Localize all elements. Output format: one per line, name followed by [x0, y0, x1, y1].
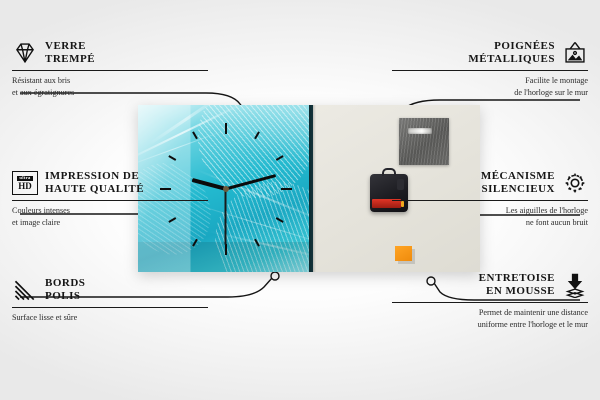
ultra-hd-icon-main: HD [18, 182, 32, 191]
callout-rule [12, 200, 208, 201]
callout-title-line: POLIS [45, 290, 85, 303]
callout-silent-mechanism: MÉCANISME SILENCIEUX Les aiguilles de l'… [392, 170, 588, 228]
callout-title-line: ENTRETOISE [479, 272, 555, 285]
callout-title-line: EN MOUSSE [486, 285, 555, 298]
callout-rule [12, 70, 208, 71]
callout-desc-line: Surface lisse et sûre [12, 312, 208, 323]
callout-title-line: IMPRESSION DE [45, 170, 144, 183]
callout-title-line: SILENCIEUX [482, 183, 555, 196]
metal-hanger-plate [399, 118, 449, 165]
callout-title-line: HAUTE QUALITÉ [45, 183, 144, 196]
callout-desc-line: ne font aucun bruit [392, 217, 588, 228]
diamond-icon [12, 40, 38, 66]
callout-desc-line: Résistant aux bris [12, 75, 208, 86]
callout-foam-spacer: ENTRETOISE EN MOUSSE Permet de maintenir… [392, 272, 588, 330]
callout-desc-line: Couleurs intenses [12, 205, 208, 216]
ultra-hd-icon-top: ultra [17, 176, 32, 181]
callout-rule [392, 302, 588, 303]
callout-rule [12, 307, 208, 308]
callout-title-line: VERRE [45, 40, 95, 53]
callout-desc-line: et aux égratignures [12, 87, 208, 98]
infographic-stage: VERRE TREMPÉ Résistant aux bris et aux é… [0, 0, 600, 400]
gear-icon [562, 170, 588, 196]
callout-title-line: BORDS [45, 277, 85, 290]
picture-frame-hook-icon [562, 40, 588, 66]
callout-desc-line: Les aiguilles de l'horloge [392, 205, 588, 216]
arrow-down-pad-icon [562, 272, 588, 298]
clock-center-cap [223, 186, 229, 192]
callout-rule [392, 200, 588, 201]
callout-title-line: TREMPÉ [45, 53, 95, 66]
callout-desc-line: Permet de maintenir une distance [392, 307, 588, 318]
callout-print-quality: ultra HD IMPRESSION DE HAUTE QUALITÉ Cou… [12, 170, 208, 228]
callout-title-line: POIGNÉES [494, 40, 555, 53]
callout-desc-line: et image claire [12, 217, 208, 228]
callout-polished-edges: BORDS POLIS Surface lisse et sûre [12, 277, 208, 324]
polished-edge-icon [12, 277, 38, 303]
callout-metal-handles: POIGNÉES MÉTALLIQUES Facilite le montage… [392, 40, 588, 98]
callout-rule [392, 70, 588, 71]
callout-desc-line: Facilite le montage [392, 75, 588, 86]
callout-desc-line: uniforme entre l'horloge et le mur [392, 319, 588, 330]
clock-second-hand [225, 189, 227, 245]
foam-spacer [395, 246, 412, 261]
callout-title-line: MÉTALLIQUES [468, 53, 555, 66]
callout-desc-line: de l'horloge sur le mur [392, 87, 588, 98]
callout-title-line: MÉCANISME [481, 170, 555, 183]
ultra-hd-icon: ultra HD [12, 171, 38, 195]
callout-tempered-glass: VERRE TREMPÉ Résistant aux bris et aux é… [12, 40, 208, 98]
